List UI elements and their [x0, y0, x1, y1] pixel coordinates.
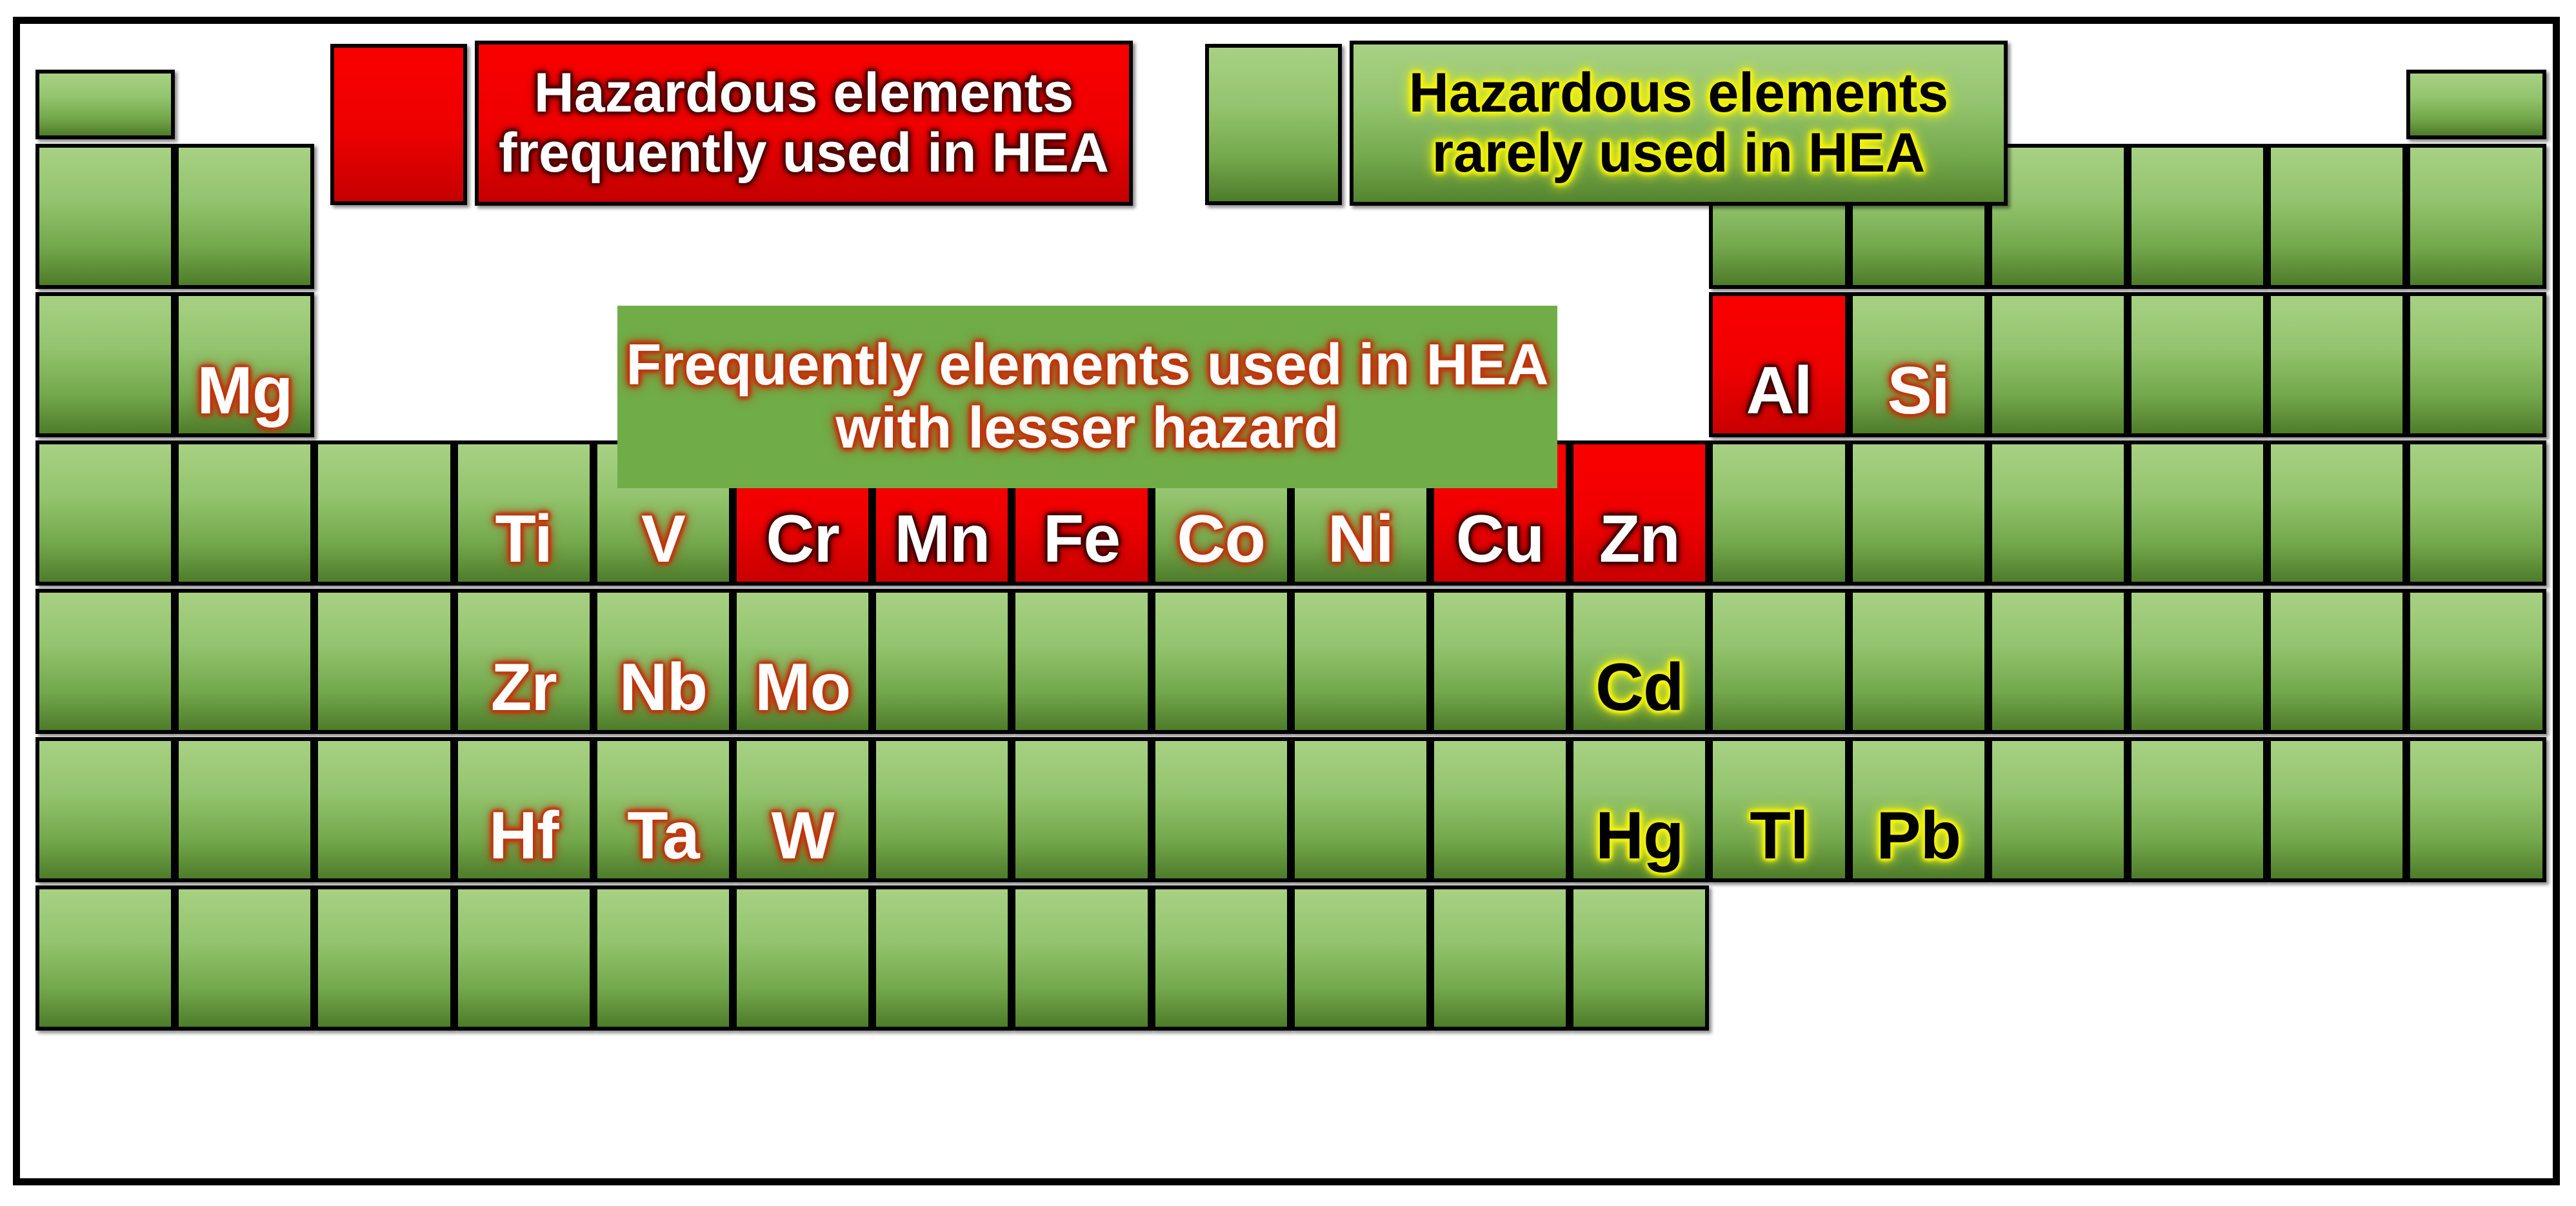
legend-line-2: frequently used in HEA	[499, 123, 1109, 183]
element-cell-empty-r3c17[interactable]	[2267, 292, 2406, 437]
element-cell-zr[interactable]: Zr	[454, 589, 594, 734]
element-cell-empty-r2c17[interactable]	[2267, 144, 2406, 289]
element-cell-empty-r4c3[interactable]	[314, 440, 454, 586]
element-cell-empty-r3c1[interactable]	[35, 292, 175, 437]
element-symbol: W	[772, 802, 834, 878]
legend-swatch-hazardous-frequent	[330, 44, 467, 205]
legend-line-2: rarely used in HEA	[1432, 123, 1926, 183]
element-cell-empty-r5c7[interactable]	[872, 589, 1012, 734]
element-symbol: V	[641, 506, 685, 582]
element-cell-empty-r3c16[interactable]	[2128, 292, 2267, 437]
element-cell-nb[interactable]: Nb	[594, 589, 733, 734]
element-cell-ta[interactable]: Ta	[594, 737, 733, 882]
element-cell-empty-r4c18[interactable]	[2406, 440, 2546, 586]
element-symbol: Mn	[894, 506, 990, 582]
element-cell-empty-r5c14[interactable]	[1849, 589, 1988, 734]
element-symbol: Pb	[1876, 802, 1961, 878]
element-cell-empty-r7c6[interactable]	[733, 885, 872, 1031]
element-symbol: Mg	[197, 357, 292, 433]
element-cell-empty-r2c2[interactable]	[175, 144, 314, 289]
element-cell-empty-r6c17[interactable]	[2267, 737, 2406, 882]
element-cell-empty-r2c1[interactable]	[35, 144, 175, 289]
element-symbol: Hf	[489, 802, 559, 878]
element-cell-empty-r7c8[interactable]	[1012, 885, 1151, 1031]
element-cell-empty-r6c2[interactable]	[175, 737, 314, 882]
element-symbol: Al	[1746, 357, 1812, 433]
element-cell-empty-r5c8[interactable]	[1012, 589, 1151, 734]
element-cell-empty-r2c16[interactable]	[2128, 144, 2267, 289]
legend-line-1: Hazardous elements	[534, 63, 1073, 123]
element-cell-empty-r7c5[interactable]	[594, 885, 733, 1031]
legend-swatch-hazardous-rare	[1205, 44, 1342, 205]
element-cell-empty-r6c15[interactable]	[1988, 737, 2128, 882]
element-cell-empty-r5c17[interactable]	[2267, 589, 2406, 734]
element-cell-empty-r6c9[interactable]	[1152, 737, 1291, 882]
element-cell-empty-r7c7[interactable]	[872, 885, 1012, 1031]
element-cell-empty-r2c15[interactable]	[1988, 144, 2128, 289]
element-symbol: Ti	[495, 506, 552, 582]
element-cell-empty-r6c18[interactable]	[2406, 737, 2546, 882]
legend-line-1: Hazardous elements	[1409, 63, 1948, 123]
element-cell-empty-r7c9[interactable]	[1152, 885, 1291, 1031]
element-cell-ti[interactable]: Ti	[454, 440, 594, 586]
element-cell-empty-r5c13[interactable]	[1709, 589, 1848, 734]
element-cell-empty-r7c12[interactable]	[1570, 885, 1709, 1031]
element-cell-empty-r5c11[interactable]	[1430, 589, 1570, 734]
element-symbol: Ni	[1328, 506, 1393, 582]
legend-label-hazardous-rare: Hazardous elements rarely used in HEA	[1350, 41, 2008, 206]
element-cell-cd[interactable]: Cd	[1570, 589, 1709, 734]
element-cell-empty-r6c1[interactable]	[35, 737, 175, 882]
element-cell-empty-r2c18[interactable]	[2406, 144, 2546, 289]
element-cell-empty-r4c13[interactable]	[1709, 440, 1848, 586]
element-cell-empty-r4c1[interactable]	[35, 440, 175, 586]
legend-line-1: Frequently elements used in HEA	[626, 334, 1548, 397]
element-cell-empty-r4c14[interactable]	[1849, 440, 1988, 586]
element-cell-empty-r5c2[interactable]	[175, 589, 314, 734]
element-cell-empty-r4c16[interactable]	[2128, 440, 2267, 586]
element-cell-empty-r6c16[interactable]	[2128, 737, 2267, 882]
legend-line-2: with lesser hazard	[835, 397, 1339, 460]
element-cell-mg[interactable]: Mg	[175, 292, 314, 437]
element-cell-empty-r7c3[interactable]	[314, 885, 454, 1031]
element-cell-mo[interactable]: Mo	[733, 589, 872, 734]
element-symbol: Fe	[1043, 506, 1120, 582]
element-symbol: Zn	[1599, 506, 1680, 582]
element-cell-hg[interactable]: Hg	[1570, 737, 1709, 882]
element-cell-hf[interactable]: Hf	[454, 737, 594, 882]
element-symbol: Zr	[491, 654, 557, 730]
element-cell-al[interactable]: Al	[1709, 292, 1848, 437]
element-cell-empty-r1c18[interactable]	[2406, 70, 2546, 139]
element-cell-pb[interactable]: Pb	[1849, 737, 1988, 882]
legend-label-frequent-lesser-hazard: Frequently elements used in HEA with les…	[617, 306, 1557, 488]
element-cell-w[interactable]: W	[733, 737, 872, 882]
periodic-table-grid: MgAlSiTiVCrMnFeCoNiCuZnZrNbMoCdHfTaWHgTl…	[35, 70, 2545, 1137]
element-cell-empty-r5c16[interactable]	[2128, 589, 2267, 734]
element-symbol: Cd	[1595, 654, 1684, 730]
element-cell-empty-r5c18[interactable]	[2406, 589, 2546, 734]
element-cell-empty-r5c10[interactable]	[1291, 589, 1430, 734]
element-cell-empty-r6c11[interactable]	[1430, 737, 1570, 882]
element-symbol: Ta	[627, 802, 699, 878]
element-cell-empty-r3c18[interactable]	[2406, 292, 2546, 437]
legend-label-hazardous-frequent: Hazardous elements frequently used in HE…	[475, 41, 1133, 206]
element-symbol: Hg	[1595, 802, 1684, 878]
element-cell-empty-r6c3[interactable]	[314, 737, 454, 882]
element-cell-empty-r6c8[interactable]	[1012, 737, 1151, 882]
element-cell-empty-r7c10[interactable]	[1291, 885, 1430, 1031]
element-cell-empty-r4c2[interactable]	[175, 440, 314, 586]
element-symbol: Co	[1177, 506, 1265, 582]
element-cell-empty-r7c4[interactable]	[454, 885, 594, 1031]
element-cell-tl[interactable]: Tl	[1709, 737, 1848, 882]
element-symbol: Tl	[1750, 802, 1808, 878]
element-cell-empty-r6c7[interactable]	[872, 737, 1012, 882]
periodic-table-figure: MgAlSiTiVCrMnFeCoNiCuZnZrNbMoCdHfTaWHgTl…	[0, 0, 2576, 1206]
element-cell-zn[interactable]: Zn	[1570, 440, 1709, 586]
element-cell-empty-r5c15[interactable]	[1988, 589, 2128, 734]
element-cell-empty-r5c3[interactable]	[314, 589, 454, 734]
element-cell-empty-r7c2[interactable]	[175, 885, 314, 1031]
element-symbol: Cr	[766, 506, 839, 582]
element-cell-empty-r7c1[interactable]	[35, 885, 175, 1031]
element-cell-empty-r6c10[interactable]	[1291, 737, 1430, 882]
element-symbol: Si	[1888, 357, 1950, 433]
element-cell-empty-r3c15[interactable]	[1988, 292, 2128, 437]
element-symbol: Nb	[619, 654, 708, 730]
element-cell-empty-r4c15[interactable]	[1988, 440, 2128, 586]
element-cell-si[interactable]: Si	[1849, 292, 1988, 437]
element-cell-empty-r5c9[interactable]	[1152, 589, 1291, 734]
element-cell-empty-r5c1[interactable]	[35, 589, 175, 734]
element-cell-empty-r4c17[interactable]	[2267, 440, 2406, 586]
element-cell-empty-r1c1[interactable]	[35, 70, 175, 139]
element-cell-empty-r7c11[interactable]	[1430, 885, 1570, 1031]
element-symbol: Cu	[1456, 506, 1544, 582]
element-symbol: Mo	[755, 654, 850, 730]
